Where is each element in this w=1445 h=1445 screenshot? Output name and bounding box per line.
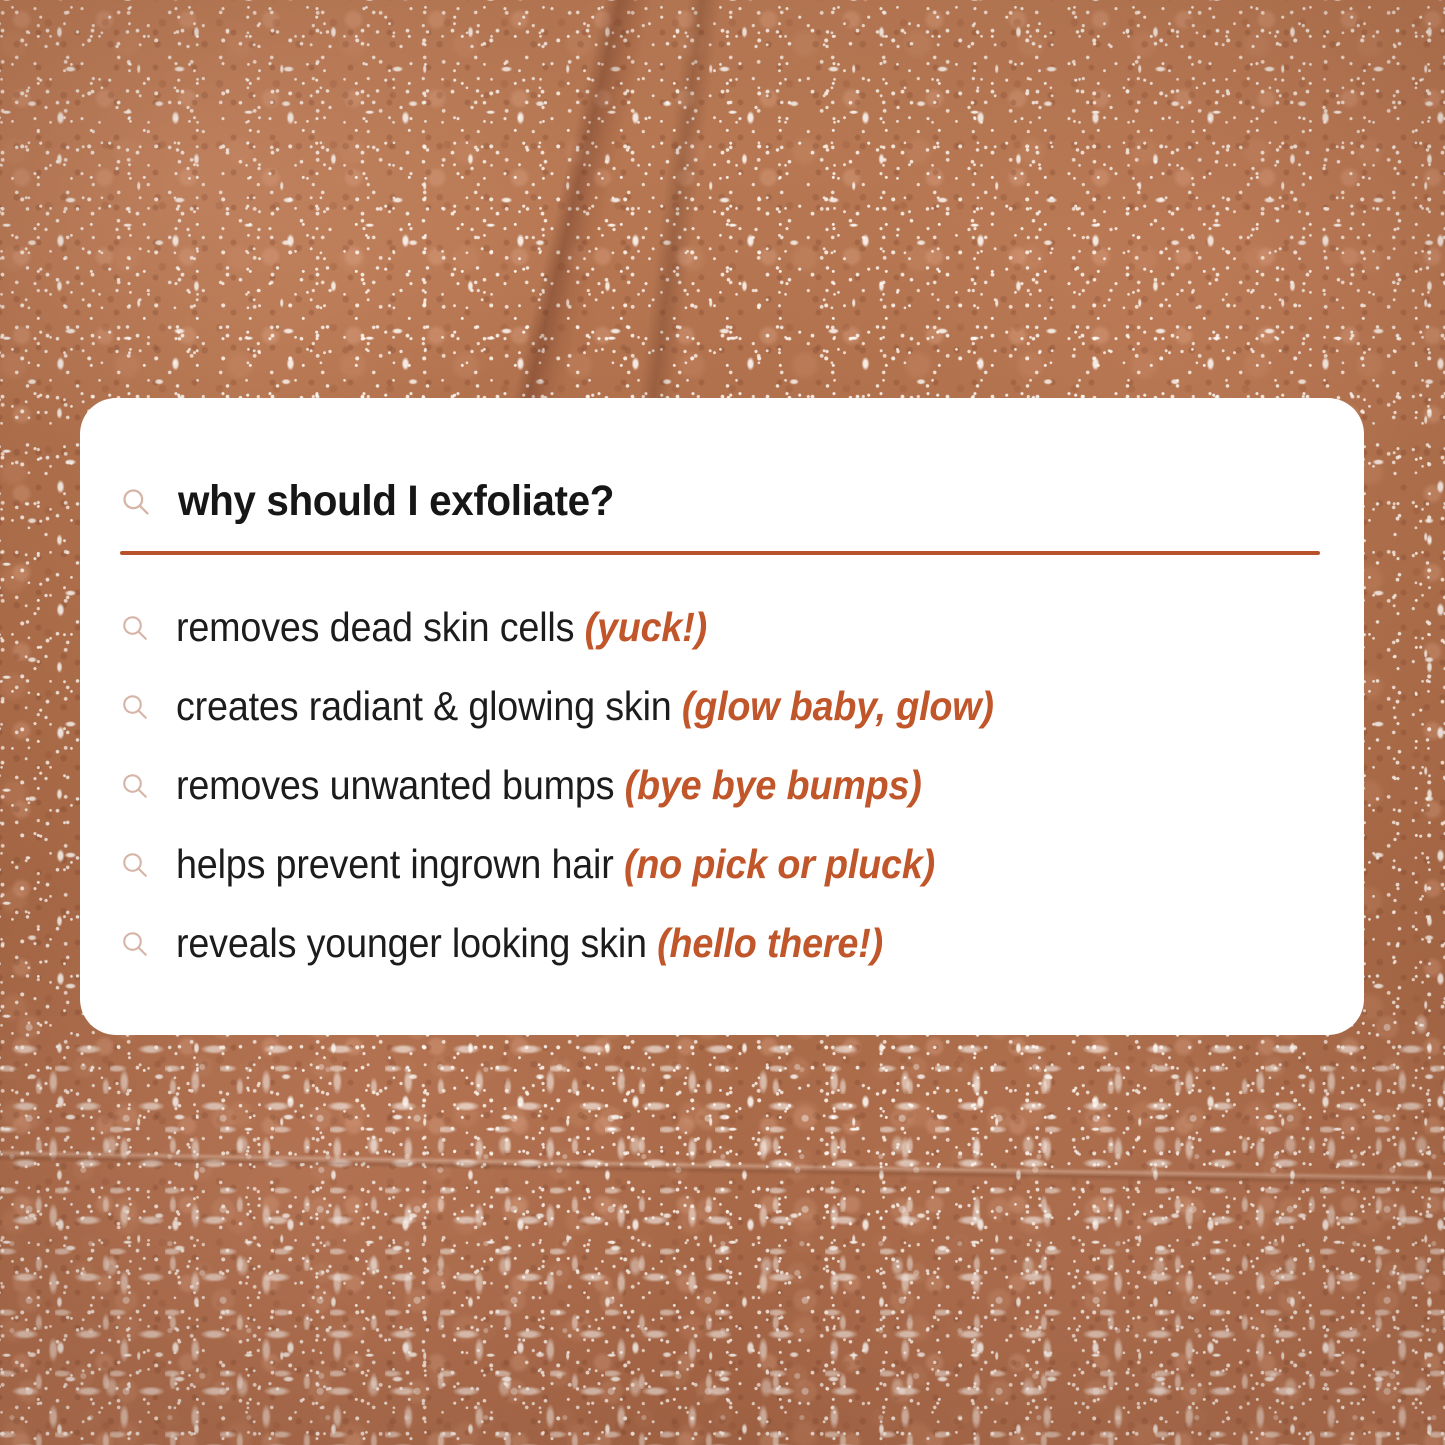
list-item-text: removes dead skin cells: [176, 604, 585, 650]
list-item-text: removes unwanted bumps: [176, 762, 625, 808]
skin-crease-lower: [0, 1025, 1445, 1445]
list-item: reveals younger looking skin (hello ther…: [120, 904, 1344, 983]
card-heading-row: why should I exfoliate?: [120, 480, 642, 523]
list-item-text: helps prevent ingrown hair: [176, 841, 624, 887]
search-icon: [120, 929, 150, 959]
list-item: creates radiant & glowing skin (glow bab…: [120, 667, 1344, 746]
product-infographic: why should I exfoliate? removes dead ski…: [0, 0, 1445, 1445]
list-item-aside: (bye bye bumps): [625, 762, 922, 808]
list-item-label: helps prevent ingrown hair (no pick or p…: [176, 844, 935, 885]
list-item-label: creates radiant & glowing skin (glow bab…: [176, 686, 994, 727]
search-icon: [120, 850, 150, 880]
list-item-aside: (yuck!): [585, 604, 707, 650]
list-item-label: removes unwanted bumps (bye bye bumps): [176, 765, 922, 806]
search-icon: [120, 692, 150, 722]
search-icon: [120, 771, 150, 801]
list-item: helps prevent ingrown hair (no pick or p…: [120, 825, 1344, 904]
list-item-aside: (glow baby, glow): [682, 683, 994, 729]
list-item-text: reveals younger looking skin: [176, 920, 657, 966]
list-item: removes unwanted bumps (bye bye bumps): [120, 746, 1344, 825]
list-item-label: reveals younger looking skin (hello ther…: [176, 923, 883, 964]
list-item: removes dead skin cells (yuck!): [120, 588, 1344, 667]
list-item-aside: (hello there!): [657, 920, 883, 966]
search-icon: [120, 486, 152, 518]
list-item-label: removes dead skin cells (yuck!): [176, 607, 707, 648]
list-item-aside: (no pick or pluck): [624, 841, 935, 887]
search-icon: [120, 613, 150, 643]
benefits-list: removes dead skin cells (yuck!) creates …: [120, 588, 1344, 983]
list-item-text: creates radiant & glowing skin: [176, 683, 682, 729]
page-title: why should I exfoliate?: [178, 480, 614, 523]
heading-divider: [120, 551, 1320, 555]
skin-crease-upper-secondary: [0, 0, 1445, 400]
info-card: why should I exfoliate? removes dead ski…: [80, 398, 1364, 1035]
